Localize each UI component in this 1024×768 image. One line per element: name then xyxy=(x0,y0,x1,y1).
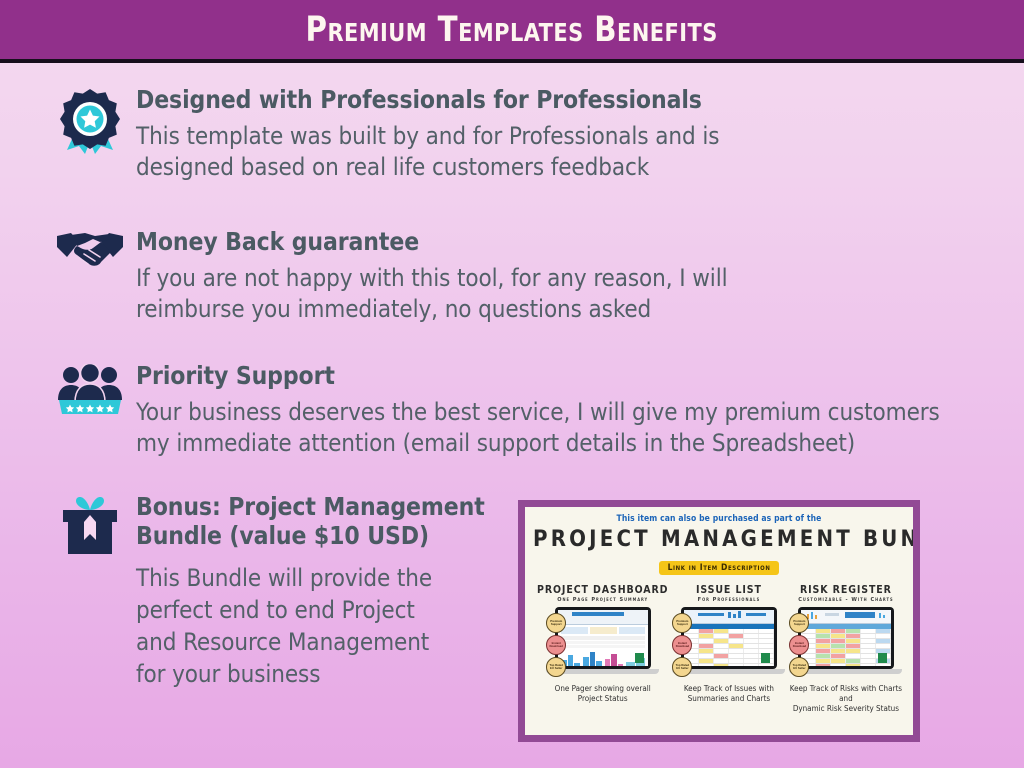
page-title: Premium Templates Benefits xyxy=(306,10,718,50)
column-title: RISK REGISTER xyxy=(789,584,902,596)
sheet-header-band xyxy=(684,610,774,624)
column-title: ISSUE LIST xyxy=(672,584,785,596)
laptop-frame xyxy=(681,607,777,669)
bundle-eyebrow-text: This item can also be purchased as part … xyxy=(533,514,905,524)
bundle-panel-inner: This item can also be purchased as part … xyxy=(525,507,913,735)
bundle-columns: PROJECT DASHBOARD One Page Project Summa… xyxy=(533,584,905,714)
product-thumbnail: Premium Support Instant Download Top Rat… xyxy=(546,607,659,679)
column-caption: Keep Track of Risks with Charts and Dyna… xyxy=(789,684,902,714)
bundle-column-issue-list[interactable]: ISSUE LIST For Professionals xyxy=(672,584,785,714)
link-in-item-description-badge[interactable]: Link in Item Description xyxy=(659,561,780,575)
promo-badge: Instant Download xyxy=(546,635,566,655)
sheets-corner-icon xyxy=(761,653,770,663)
column-subtitle: For Professionals xyxy=(672,597,785,603)
benefit-text: Priority Support Your business deserves … xyxy=(130,362,940,460)
bundle-column-risk-register[interactable]: RISK REGISTER Customizable - With Charts xyxy=(789,584,902,714)
promo-badge: Top Rated EU Seller xyxy=(546,657,566,677)
laptop-screen xyxy=(801,610,891,666)
benefit-title: Priority Support xyxy=(136,362,940,391)
promo-badge: Premium Support xyxy=(789,613,809,633)
benefit-title: Money Back guarantee xyxy=(136,228,728,257)
people-group-icon xyxy=(50,362,130,416)
sheet-header-band xyxy=(801,610,891,624)
product-thumbnail: Premium Support Instant Download Top Rat… xyxy=(789,607,902,679)
benefit-body: This template was built by and for Profe… xyxy=(136,121,719,184)
page-header: Premium Templates Benefits xyxy=(0,0,1024,63)
benefit-title: Bonus: Project Management Bundle (value … xyxy=(136,492,485,551)
promo-badges: Premium Support Instant Download Top Rat… xyxy=(789,613,809,679)
laptop-frame xyxy=(555,607,651,669)
laptop-screen xyxy=(684,610,774,666)
promo-badge: Instant Download xyxy=(672,635,692,655)
gift-box-icon xyxy=(50,492,130,556)
award-badge-icon xyxy=(50,86,130,154)
handshake-icon xyxy=(50,228,130,274)
benefit-text: Money Back guarantee If you are not happ… xyxy=(130,228,728,326)
bundle-promo-panel[interactable]: This item can also be purchased as part … xyxy=(518,500,920,742)
promo-badges: Premium Support Instant Download Top Rat… xyxy=(672,613,692,679)
column-caption: Keep Track of Issues with Summaries and … xyxy=(672,684,785,704)
benefit-text: Bonus: Project Management Bundle (value … xyxy=(130,492,485,690)
sheets-corner-icon xyxy=(878,653,887,663)
benefit-body: If you are not happy with this tool, for… xyxy=(136,263,728,326)
promo-badge: Premium Support xyxy=(672,613,692,633)
benefit-row-designed-with-professionals: Designed with Professionals for Professi… xyxy=(50,86,950,184)
sheet-header-band xyxy=(558,610,648,625)
promo-badge: Top Rated EU Seller xyxy=(672,657,692,677)
promo-badges: Premium Support Instant Download Top Rat… xyxy=(546,613,566,679)
benefit-body: This Bundle will provide the perfect end… xyxy=(136,563,485,691)
bundle-title: PROJECT MANAGEMENT BUNDLE xyxy=(533,527,905,552)
promo-graphic: Premium Templates Benefits Designed with… xyxy=(0,0,1024,768)
column-caption: One Pager showing overall Project Status xyxy=(537,684,668,704)
column-title: PROJECT DASHBOARD xyxy=(537,584,668,596)
laptop-screen xyxy=(558,610,648,666)
benefit-row-money-back-guarantee: Money Back guarantee If you are not happ… xyxy=(50,228,950,326)
benefit-text: Designed with Professionals for Professi… xyxy=(130,86,719,184)
promo-badge: Premium Support xyxy=(546,613,566,633)
laptop-frame xyxy=(798,607,894,669)
bundle-column-project-dashboard[interactable]: PROJECT DASHBOARD One Page Project Summa… xyxy=(537,584,668,714)
benefit-row-bonus-bundle: Bonus: Project Management Bundle (value … xyxy=(50,492,520,690)
column-subtitle: One Page Project Summary xyxy=(537,597,668,603)
benefit-row-priority-support: Priority Support Your business deserves … xyxy=(50,362,1010,460)
benefit-body: Your business deserves the best service,… xyxy=(136,397,940,460)
sheets-corner-icon xyxy=(635,653,644,663)
sheet-title-bar xyxy=(572,612,624,616)
benefit-title: Designed with Professionals for Professi… xyxy=(136,86,719,115)
column-subtitle: Customizable - With Charts xyxy=(789,597,902,603)
product-thumbnail: Premium Support Instant Download Top Rat… xyxy=(672,607,785,679)
bundle-badge-wrap: Link in Item Description xyxy=(533,557,905,575)
promo-badge: Instant Download xyxy=(789,635,809,655)
promo-badge: Top Rated EU Seller xyxy=(789,657,809,677)
